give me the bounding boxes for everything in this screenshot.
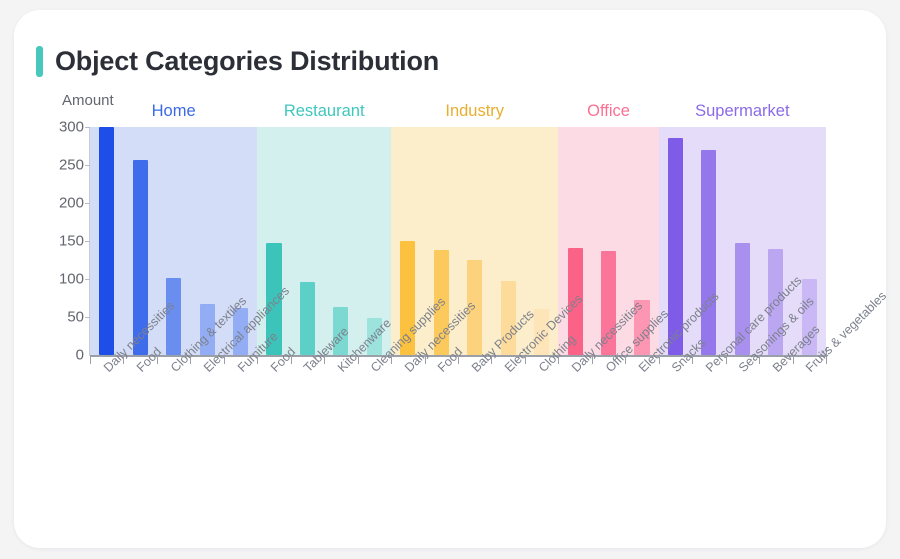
x-axis-tick [257,355,258,364]
x-axis-tick [391,355,392,364]
bar[interactable] [133,160,148,355]
y-axis-tick-label: 50 [67,309,84,326]
bar[interactable] [200,304,215,355]
page-title: Object Categories Distribution [55,46,439,77]
y-axis-tick-label: 250 [59,157,84,174]
bar[interactable] [300,282,315,355]
bar[interactable] [768,249,783,355]
bar[interactable] [501,281,516,355]
bar[interactable] [99,127,114,355]
x-axis-tick [793,355,794,364]
bar[interactable] [534,309,549,355]
x-axis-tick [558,355,559,364]
y-axis-tick-label: 100 [59,271,84,288]
x-axis-tick [425,355,426,364]
bar[interactable] [233,308,248,355]
bar[interactable] [601,251,616,355]
x-axis-tick [157,355,158,364]
x-axis-tick [759,355,760,364]
chart-header: Object Categories Distribution [36,46,439,77]
bar[interactable] [668,138,683,355]
band-label-home: Home [90,102,257,121]
x-axis-tick [224,355,225,364]
x-axis-tick [190,355,191,364]
x-axis-tick [726,355,727,364]
y-axis-tick-labels: 300250200150100500 [32,127,84,355]
x-axis-tick [291,355,292,364]
x-axis-tick [123,355,124,364]
x-axis-tick [491,355,492,364]
title-accent-bar [36,46,43,77]
x-axis-tick [324,355,325,364]
band-label-supermarket: Supermarket [659,102,826,121]
x-axis-tick [826,355,827,364]
y-axis-tick-label: 300 [59,119,84,136]
bar[interactable] [701,150,716,355]
bar[interactable] [802,279,817,355]
bar[interactable] [333,307,348,355]
band-label-office: Office [558,102,658,121]
bar[interactable] [166,278,181,355]
x-axis-tick [90,355,91,364]
x-axis-tick [625,355,626,364]
band-label-restaurant: Restaurant [257,102,391,121]
bar[interactable] [266,243,281,355]
bar[interactable] [434,250,449,355]
x-axis-tick [592,355,593,364]
x-axis-tick [358,355,359,364]
x-axis-tick [525,355,526,364]
plot-area: HomeRestaurantIndustryOfficeSupermarket [90,127,826,355]
x-axis-tick [659,355,660,364]
bar[interactable] [634,300,649,355]
bar[interactable] [400,241,415,355]
bar[interactable] [467,260,482,355]
y-axis-tick-label: 200 [59,195,84,212]
x-axis-tick [692,355,693,364]
band-label-industry: Industry [391,102,558,121]
bar[interactable] [367,318,382,355]
bar[interactable] [568,248,583,355]
y-axis-tick-label: 150 [59,233,84,250]
chart-card: Object Categories Distribution Amount 30… [14,10,886,548]
bar[interactable] [735,243,750,355]
x-axis-tick [458,355,459,364]
y-axis-tick-label: 0 [76,347,84,364]
